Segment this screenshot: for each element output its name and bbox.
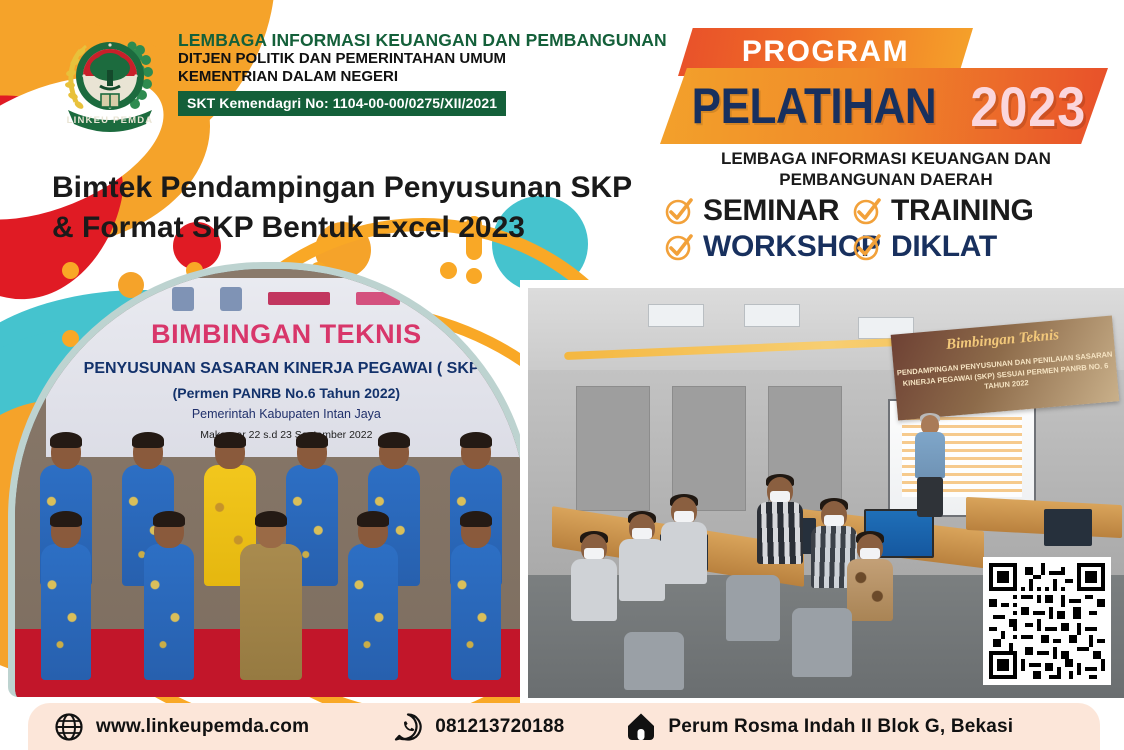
checklist-item-diklat: DIKLAT [852,230,1064,264]
check-circle-icon [852,232,882,262]
check-circle-icon [664,232,694,262]
logo-ribbon-text: LINKEU PEMDA [67,115,154,126]
checklist-item-seminar: SEMINAR [664,194,846,228]
photo-group-participants: BIMBINGAN TEKNIS PENYUSUNAN SASARAN KINE… [8,262,534,697]
footer-address: Perum Rosma Indah II Blok G, Bekasi [626,712,1013,742]
laptop-icon [1044,509,1092,546]
person-figure-presenter [240,514,301,680]
ribbon-pelatihan-label: PELATIHAN [692,77,937,135]
footer-address-label: Perum Rosma Indah II Blok G, Bekasi [668,716,1013,738]
page-title: Bimtek Pendampingan Penyusunan SKP & For… [52,168,692,247]
ribbon-program-label: PROGRAM [742,35,909,69]
berakhlak-logo-icon [268,292,330,305]
page-title-line-1: Bimtek Pendampingan Penyusunan SKP [52,168,692,208]
org-name-line-1: LEMBAGA INFORMASI KEUANGAN DAN PEMBANGUN… [178,30,667,50]
org-name-line-3: KEMENTRIAN DALAM NEGERI [178,68,667,86]
checklist-item-workshop: WORKSHOP [664,230,846,264]
person-figure [445,514,506,680]
globe-icon [54,712,84,742]
page-title-line-2: & Format SKP Bentuk Excel 2023 [52,208,692,248]
presenter-figure [912,415,948,538]
checklist-item-training: TRAINING [852,194,1064,228]
skt-license-badge: SKT Kemendagri No: 1104-00-00/0275/XII/2… [178,91,506,116]
org-name-line-2: DITJEN POLITIK DAN PEMERINTAHAN UMUM [178,50,667,68]
program-subtitle-line-2: PEMBANGUNAN DAERAH [676,169,1096,190]
person-figure [138,514,199,680]
linkeu-pemda-emblem-icon: LINKEU PEMDA [56,24,164,134]
ribbon-year-label: 2023 [971,74,1087,139]
whatsapp-icon [393,712,423,742]
program-ribbon: PROGRAM PELATIHAN 2023 [672,28,1112,148]
photo-right-banner-sub: PENDAMPINGAN PENYUSUNAN DAN PENILAIAN SA… [894,350,1118,400]
check-circle-icon [664,196,694,226]
ribbon-pelatihan-band: PELATIHAN 2023 [660,68,1108,144]
person-figure [35,514,96,680]
photo-left-banner-logos [46,287,527,311]
footer-phone-label: 081213720188 [435,716,564,738]
footer-website-label: www.linkeupemda.com [96,716,309,738]
check-circle-icon [852,196,882,226]
organization-header: LINKEU PEMDA LEMBAGA INFORMASI KEUANGAN … [56,24,667,134]
checklist-label-seminar: SEMINAR [703,194,839,228]
checklist-label-training: TRAINING [891,194,1034,228]
seated-participant [648,497,720,620]
photo-left-front-row [15,492,527,680]
home-icon [626,712,656,742]
photo-left-banner-line-2: PENYUSUNAN SASARAN KINERJA PEGAWAI ( SKP… [46,360,527,378]
qr-code-icon[interactable] [983,557,1111,685]
program-subtitle: LEMBAGA INFORMASI KEUANGAN DAN PEMBANGUN… [676,148,1096,191]
photo-left-banner-line-3: (Permen PANRB No.6 Tahun 2022) [46,385,527,401]
person-figure [343,514,404,680]
photo-left-banner-title: BIMBINGAN TEKNIS [46,319,527,350]
checklist-label-diklat: DIKLAT [891,230,997,264]
poster-canvas: LINKEU PEMDA LEMBAGA INFORMASI KEUANGAN … [0,0,1124,750]
program-type-checklist: SEMINAR TRAINING WORKSHOP DIKLAT [664,194,1064,264]
bangga-melayani-logo-icon [356,292,400,305]
contact-footer: www.linkeupemda.com 081213720188 Perum R… [28,703,1100,750]
organization-text-block: LEMBAGA INFORMASI KEUANGAN DAN PEMBANGUN… [178,24,667,116]
footer-website[interactable]: www.linkeupemda.com [54,712,309,742]
footer-phone[interactable]: 081213720188 [393,712,564,742]
program-subtitle-line-1: LEMBAGA INFORMASI KEUANGAN DAN [676,148,1096,169]
